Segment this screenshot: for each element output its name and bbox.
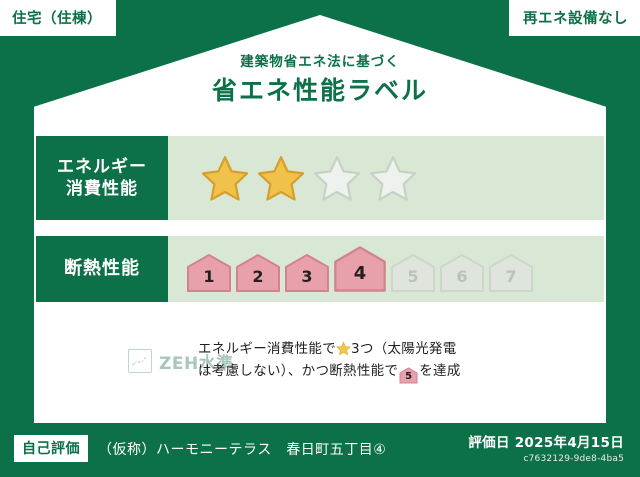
insulation-grade-value: 1 bbox=[203, 267, 214, 293]
zeh-description-area: ZEH水準 エネルギー消費性能で3つ（太陽光発電 は考慮しない）、かつ断熱性能で… bbox=[36, 330, 604, 392]
star-filled-icon bbox=[256, 154, 306, 202]
insulation-grade-badge: 6 bbox=[439, 253, 485, 293]
star-empty-icon bbox=[368, 154, 418, 202]
energy-label-line1: エネルギー bbox=[57, 156, 147, 178]
insulation-grade-badge: 1 bbox=[186, 253, 232, 293]
tag-building-type: 住宅（住棟） bbox=[0, 0, 116, 36]
insulation-grade-value: 3 bbox=[301, 267, 312, 293]
title-block: 建築物省エネ法に基づく 省エネ性能ラベル bbox=[0, 54, 640, 106]
desc-line2-prefix: は考慮しない）、かつ断熱性能で bbox=[198, 363, 398, 379]
footer-left: 自己評価 （仮称）ハーモニーテラス 春日町五丁目④ bbox=[14, 435, 386, 462]
star-empty-icon bbox=[312, 154, 362, 202]
energy-performance-label: エネルギー 消費性能 bbox=[36, 136, 168, 220]
tag-renewable-energy: 再エネ設備なし bbox=[509, 0, 640, 36]
footer-right: 評価日 2025年4月15日 c7632129-9de8-4ba5 bbox=[468, 431, 624, 464]
energy-label-line2: 消費性能 bbox=[66, 178, 138, 200]
insulation-grade-value: 4 bbox=[354, 263, 367, 293]
title-main: 省エネ性能ラベル bbox=[0, 77, 640, 106]
inline-grade-value: 5 bbox=[399, 367, 418, 386]
insulation-performance-value: 1234567 bbox=[168, 236, 604, 302]
evaluation-date: 評価日 2025年4月15日 bbox=[468, 431, 624, 451]
insulation-grade-badge: 7 bbox=[488, 253, 534, 293]
evaluation-id: c7632129-9de8-4ba5 bbox=[468, 454, 624, 464]
inline-grade-badge: 5 bbox=[399, 367, 418, 384]
self-evaluation-badge: 自己評価 bbox=[14, 435, 88, 462]
project-name: （仮称）ハーモニーテラス 春日町五丁目④ bbox=[98, 439, 386, 459]
insulation-grade-badge: 4 bbox=[333, 245, 387, 293]
energy-performance-label: 住宅（住棟） 再エネ設備なし 建築物省エネ法に基づく 省エネ性能ラベル エネルギ… bbox=[0, 0, 640, 477]
achievement-description: エネルギー消費性能で3つ（太陽光発電 は考慮しない）、かつ断熱性能で5を達成 bbox=[176, 338, 604, 384]
insulation-grade-badge: 3 bbox=[284, 253, 330, 293]
insulation-grade-badge: 5 bbox=[390, 253, 436, 293]
energy-performance-row: エネルギー 消費性能 bbox=[36, 136, 604, 220]
desc-line1-suffix: 3つ（太陽光発電 bbox=[351, 341, 457, 357]
insulation-grade-badge: 2 bbox=[235, 253, 281, 293]
title-subtitle: 建築物省エネ法に基づく bbox=[0, 54, 640, 70]
star-rating bbox=[168, 154, 418, 202]
energy-performance-value bbox=[168, 136, 604, 220]
insulation-performance-label: 断熱性能 bbox=[36, 236, 168, 302]
footer-bar: 自己評価 （仮称）ハーモニーテラス 春日町五丁目④ 評価日 2025年4月15日… bbox=[0, 423, 640, 477]
zeh-standard-icon bbox=[128, 349, 152, 373]
star-filled-icon bbox=[200, 154, 250, 202]
insulation-performance-row: 断熱性能 1234567 bbox=[36, 236, 604, 302]
insulation-grade-value: 6 bbox=[456, 267, 467, 293]
zeh-standard-block: ZEH水準 bbox=[36, 349, 176, 374]
insulation-grade-value: 2 bbox=[252, 267, 263, 293]
insulation-grade-value: 7 bbox=[505, 267, 516, 293]
desc-line1-prefix: エネルギー消費性能で bbox=[198, 341, 336, 357]
insulation-grade-scale: 1234567 bbox=[168, 245, 534, 293]
inline-star-icon bbox=[336, 341, 351, 356]
desc-line2-suffix: を達成 bbox=[419, 363, 460, 379]
insulation-grade-value: 5 bbox=[407, 267, 418, 293]
